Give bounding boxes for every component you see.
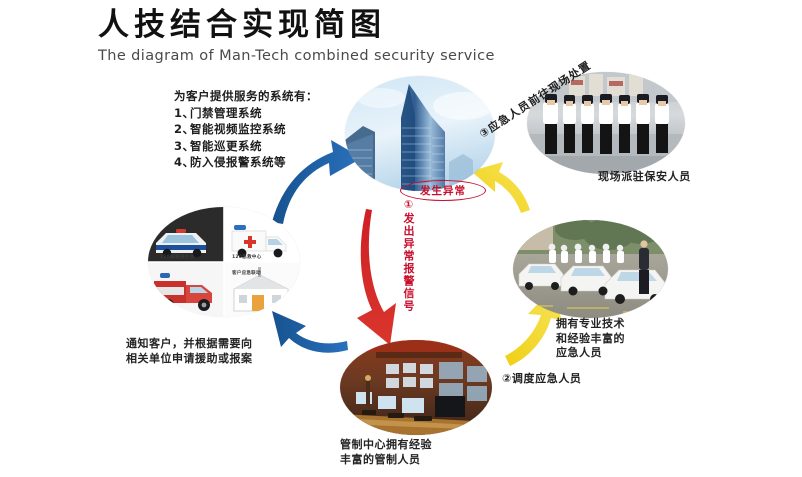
title-block: 人技结合实现简图 The diagram of Man-Tech combine… <box>98 8 568 64</box>
list-item-label: 门禁管理系统 <box>190 106 262 120</box>
list-item-number: 4、 <box>174 154 190 170</box>
control-room-photo <box>340 340 492 435</box>
arrow-building-to-center-icon <box>357 209 396 345</box>
list-item-number: 3、 <box>174 138 190 154</box>
page-subtitle: The diagram of Man-Tech combined securit… <box>98 48 568 64</box>
systems-list: 为客户提供服务的系统有： 1、门禁管理系统 2、智能视频监控系统 3、智能巡更系… <box>174 88 354 170</box>
patrol-cars-photo <box>513 220 668 318</box>
page-title: 人技结合实现简图 <box>98 8 568 44</box>
control-center-caption: 管制中心拥有经验 丰富的管制人员 <box>340 438 432 467</box>
list-item-number: 2、 <box>174 121 190 137</box>
collage-label-110: 110报警服务台 <box>160 254 194 260</box>
list-item: 3、智能巡更系统 <box>174 138 354 154</box>
collage-label-linkage: 客户应急联动 <box>232 270 261 276</box>
step-1-label: ①发出异常报警信号 <box>392 198 416 313</box>
list-item-label: 智能视频监控系统 <box>190 122 286 136</box>
list-item-number: 1、 <box>174 105 190 121</box>
collage-label-120: 120急救中心 <box>232 254 261 260</box>
list-item: 4、防入侵报警系统等 <box>174 154 354 170</box>
list-item-label: 智能巡更系统 <box>190 139 262 153</box>
list-item: 2、智能视频监控系统 <box>174 121 354 137</box>
list-item: 1、门禁管理系统 <box>174 105 354 121</box>
skyscraper-photo <box>345 76 495 191</box>
step-2-label: ②调度应急人员 <box>502 370 582 386</box>
patrol-cars-caption: 拥有专业技术 和经验丰富的 应急人员 <box>556 317 625 361</box>
systems-list-heading: 为客户提供服务的系统有： <box>174 88 354 104</box>
arrow-center-to-emergency-icon <box>272 311 348 353</box>
guards-caption: 现场派驻保安人员 <box>598 170 691 185</box>
emergency-vehicles-collage: 110报警服务台 120急救中心 客户应急联动 <box>148 207 300 317</box>
diagram-canvas: 人技结合实现简图 The diagram of Man-Tech combine… <box>0 0 802 477</box>
list-item-label: 防入侵报警系统等 <box>190 155 286 169</box>
emergency-units-caption: 通知客户，并根据需要向 相关单位申请援助或报案 <box>126 337 253 366</box>
